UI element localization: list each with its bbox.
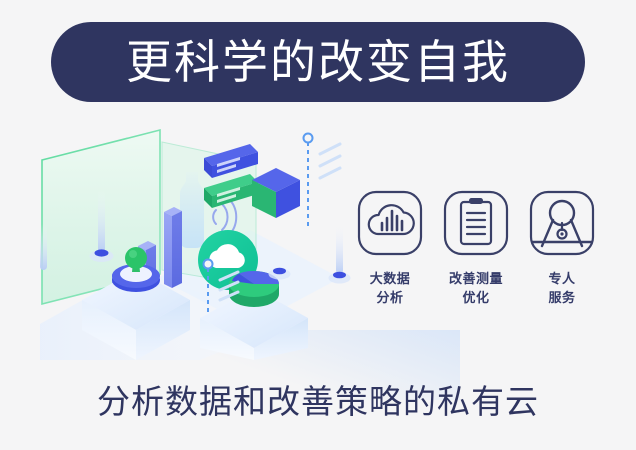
isometric-illustration bbox=[40, 128, 360, 360]
cloud-bar-chart-icon bbox=[357, 190, 423, 256]
promo-banner-page: 更科学的改变自我 bbox=[0, 0, 636, 450]
support-agent-icon bbox=[529, 190, 595, 256]
3d-cube bbox=[252, 168, 300, 218]
feature-item-measurement[interactable]: 改善测量 优化 bbox=[438, 190, 514, 308]
banner-title: 更科学的改变自我 bbox=[126, 39, 510, 85]
feature-label-service: 专人 服务 bbox=[548, 270, 575, 308]
feature-label-big-data: 大数据 分析 bbox=[370, 270, 411, 308]
dashed-connector-secondary bbox=[304, 134, 341, 229]
feature-label-measurement: 改善测量 优化 bbox=[449, 270, 503, 308]
feature-list: 大数据 分析 改善测量 优化 bbox=[352, 190, 600, 308]
glass-rod-right bbox=[329, 224, 351, 284]
page-tagline: 分析数据和改善策略的私有云 bbox=[0, 382, 636, 422]
clipboard-icon bbox=[443, 190, 509, 256]
title-banner: 更科学的改变自我 bbox=[51, 22, 585, 102]
feature-item-big-data[interactable]: 大数据 分析 bbox=[352, 190, 428, 308]
feature-item-service[interactable]: 专人 服务 bbox=[524, 190, 600, 308]
